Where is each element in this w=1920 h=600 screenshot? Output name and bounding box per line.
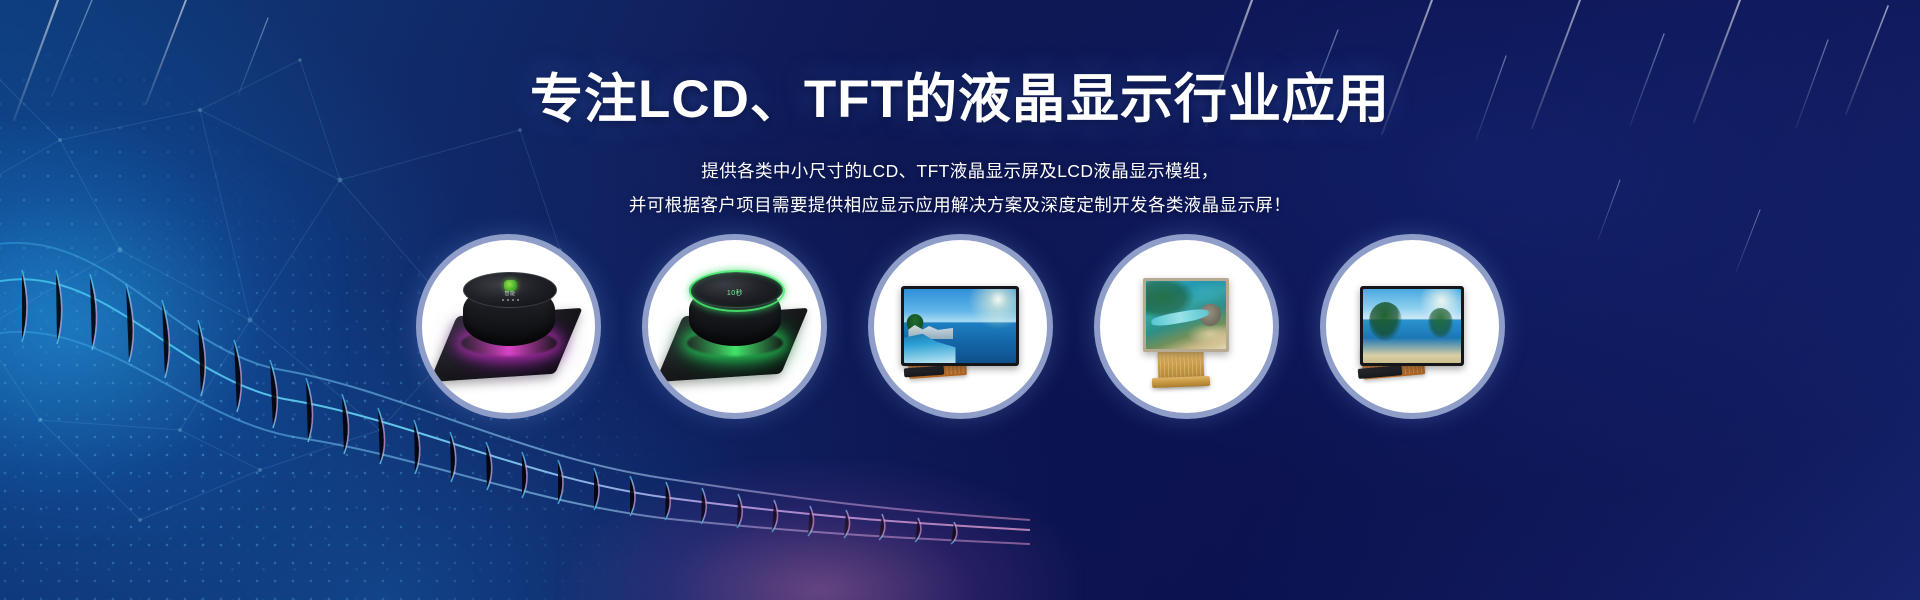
product-circle-row: 智能 10秒 <box>0 228 1920 424</box>
device-brand-label: 10秒 <box>689 288 781 298</box>
display-screen-content <box>1363 289 1461 363</box>
palm-tree-element-secondary <box>1428 308 1453 338</box>
bottom-pink-glow-decoration <box>560 460 1080 600</box>
hero-banner: 专注LCD、TFT的液晶显示行业应用 提供各类中小尺寸的LCD、TFT液晶显示屏… <box>0 0 1920 600</box>
product-image-tft-square-coast <box>1100 240 1273 413</box>
palm-tree-element <box>1369 302 1402 340</box>
product-circle-tft-display-wide-lagoon[interactable] <box>1320 234 1505 419</box>
display-bezel <box>1360 286 1464 366</box>
lcd-panel-landscape-lagoon <box>1332 251 1492 401</box>
product-circle-smart-speaker-green[interactable]: 10秒 <box>642 234 827 419</box>
product-image-smart-speaker-purple: 智能 <box>422 240 595 413</box>
subtitle-group: 提供各类中小尺寸的LCD、TFT液晶显示屏及LCD液晶显示模组， 并可根据客户项… <box>0 154 1920 222</box>
resort-building-element <box>908 323 953 339</box>
round-device-green: 10秒 <box>659 256 809 396</box>
leaf-icon <box>504 280 517 291</box>
device-indicator-dots <box>502 299 519 301</box>
product-circle-smart-speaker-purple[interactable]: 智能 <box>416 234 601 419</box>
device-top-face: 智能 <box>463 272 557 308</box>
banner-text-block: 专注LCD、TFT的液晶显示行业应用 提供各类中小尺寸的LCD、TFT液晶显示屏… <box>0 0 1920 222</box>
product-circle-tft-display-square-coast[interactable] <box>1094 234 1279 419</box>
lcd-panel-square-coast <box>1106 251 1266 401</box>
display-bezel <box>1143 278 1229 352</box>
display-screen-content <box>904 289 1016 363</box>
page-title: 专注LCD、TFT的液晶显示行业应用 <box>0 0 1920 128</box>
subtitle-line-2: 并可根据客户项目需要提供相应显示应用解决方案及深度定制开发各类液晶显示屏！ <box>0 188 1920 222</box>
product-image-tft-wide-lagoon <box>1326 240 1499 413</box>
rock-formation-element <box>1200 304 1221 326</box>
display-screen-content <box>1146 281 1226 349</box>
fpc-connector <box>1152 376 1210 388</box>
product-circle-tft-display-wide-beach[interactable] <box>868 234 1053 419</box>
product-image-smart-speaker-green: 10秒 <box>648 240 821 413</box>
subtitle-line-1: 提供各类中小尺寸的LCD、TFT液晶显示屏及LCD液晶显示模组， <box>0 154 1920 188</box>
display-bezel <box>901 286 1019 366</box>
round-device-purple: 智能 <box>433 256 583 396</box>
device-brand-label: 智能 <box>504 292 515 297</box>
lcd-panel-landscape-beach <box>880 251 1040 401</box>
product-image-tft-wide-beach <box>874 240 1047 413</box>
